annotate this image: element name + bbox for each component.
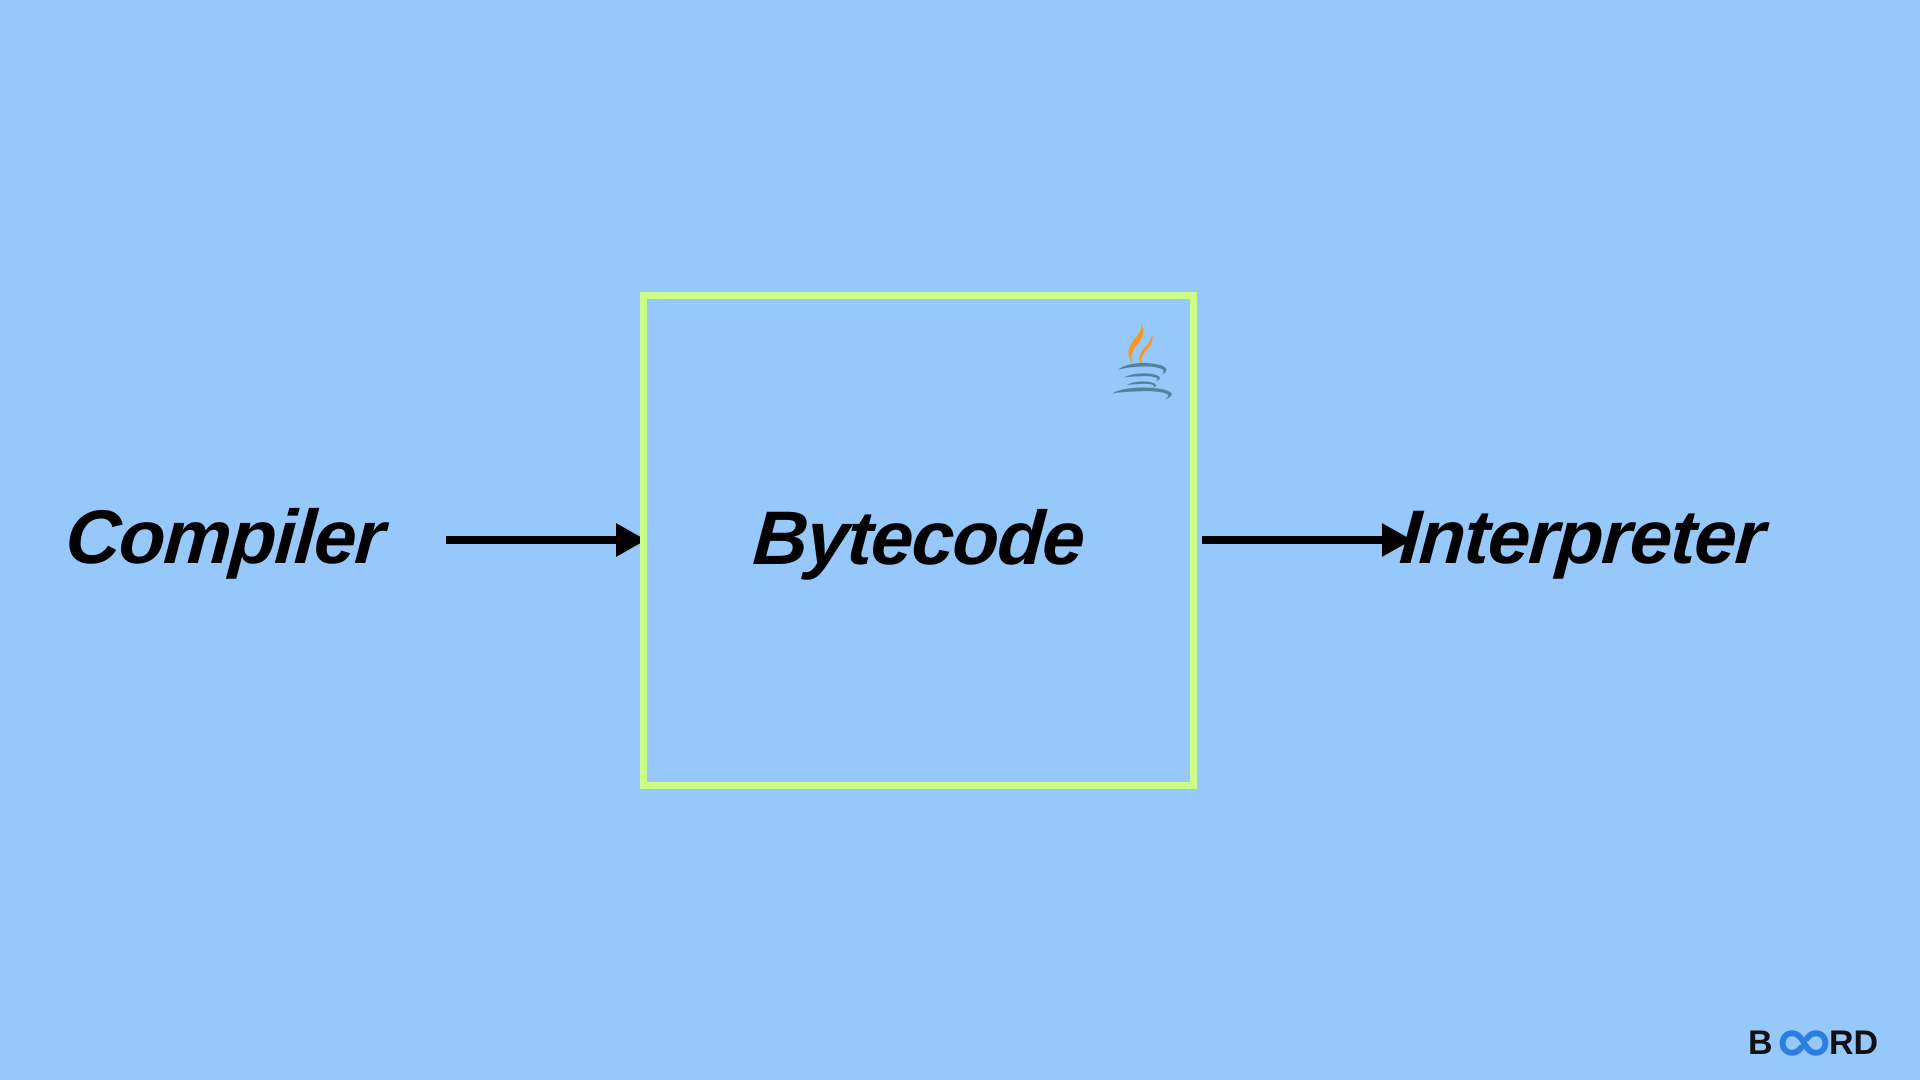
arrow-bytecode-to-interpreter-icon bbox=[1202, 510, 1412, 570]
node-label-interpreter: Interpreter bbox=[1397, 500, 1766, 576]
arrow-compiler-to-bytecode-icon bbox=[446, 510, 646, 570]
java-logo-svg bbox=[1091, 319, 1183, 411]
node-label-compiler: Compiler bbox=[63, 500, 386, 576]
bytecode-box: Bytecode bbox=[640, 292, 1197, 789]
diagram-canvas: Compiler bbox=[0, 0, 1920, 1080]
arrow-bytecode-to-interpreter bbox=[1202, 510, 1412, 570]
arrow-compiler-to-bytecode bbox=[446, 510, 646, 570]
infinity-icon-svg bbox=[1779, 1030, 1829, 1056]
java-logo-icon bbox=[1091, 319, 1183, 411]
brand-logo[interactable]: B RD bbox=[1748, 1022, 1888, 1064]
brand-logo-text-after: RD bbox=[1829, 1022, 1878, 1064]
brand-logo-text-before: B bbox=[1748, 1022, 1773, 1064]
node-label-bytecode: Bytecode bbox=[644, 501, 1192, 577]
infinity-icon bbox=[1779, 1030, 1829, 1056]
